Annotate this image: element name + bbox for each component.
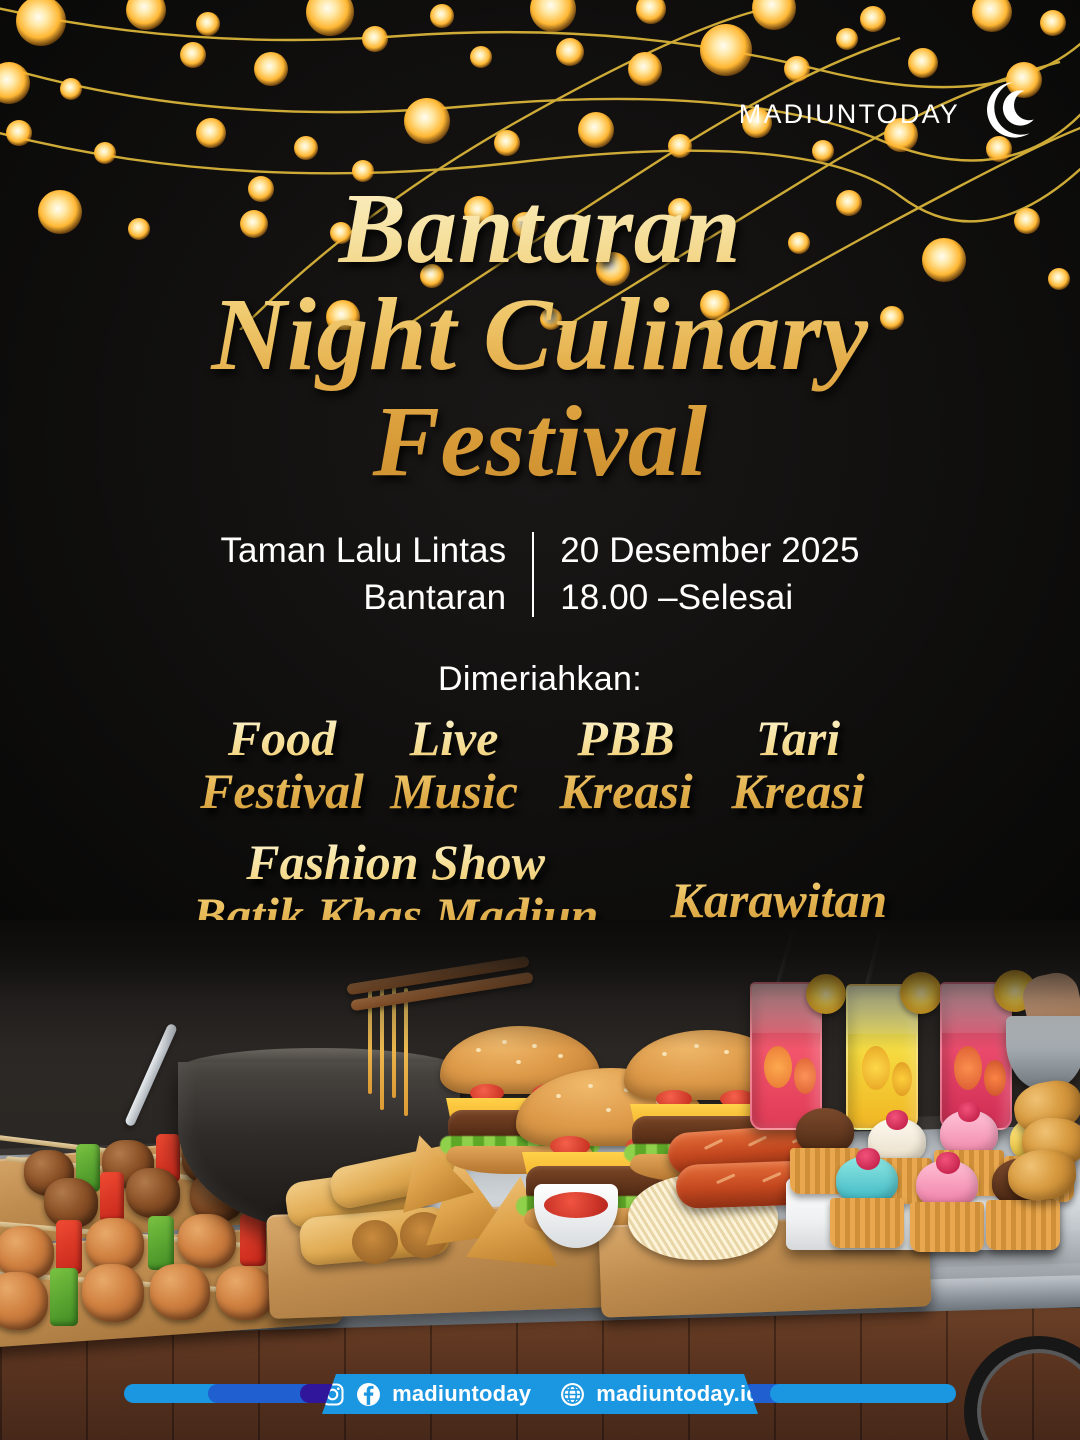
- title-line-3: Festival: [0, 389, 1080, 494]
- lineup-item-line2: Music: [368, 765, 540, 818]
- lineup-heading: Dimeriahkan:: [0, 660, 1080, 699]
- footer-segment-light-right: [770, 1384, 956, 1403]
- sesame-seed: [724, 1050, 729, 1054]
- event-meta: Taman Lalu Lintas Bantaran 20 Desember 2…: [0, 528, 1080, 621]
- sesame-seed: [662, 1052, 667, 1056]
- title-line-2: Night Culinary: [0, 281, 1080, 389]
- footer-social-band: madiuntoday madiuntoday.id: [322, 1374, 758, 1414]
- lineup-row-1: Food Festival Live Music PBB Kreasi Tari…: [0, 712, 1080, 818]
- lineup-item-food-festival: Food Festival: [196, 712, 368, 818]
- hanging-noodle: [404, 988, 408, 1116]
- event-date: 20 Desember 2025: [560, 528, 859, 575]
- lemon-garnish: [806, 974, 846, 1014]
- sausage-score: [762, 1172, 781, 1183]
- raspberry-topping: [936, 1152, 960, 1174]
- venue-line-2: Bantaran: [220, 575, 506, 622]
- lineup-item-line2: Festival: [196, 765, 368, 818]
- crescent-swoosh-logo-icon: [960, 72, 1044, 156]
- satay-meat: [82, 1264, 144, 1322]
- lineup-item-line1: Fashion Show: [246, 834, 545, 890]
- spring-roll-end: [352, 1220, 398, 1264]
- sesame-seed: [516, 1060, 521, 1064]
- satay-meat: [150, 1264, 210, 1320]
- fruit-slice: [764, 1046, 792, 1088]
- sesame-seed: [532, 1044, 537, 1048]
- venue-block: Taman Lalu Lintas Bantaran: [220, 528, 532, 621]
- raspberry-topping: [886, 1110, 908, 1130]
- fruit-slice: [862, 1046, 890, 1090]
- footer-bar: madiuntoday madiuntoday.id: [0, 1374, 1080, 1414]
- fruit-slice: [984, 1060, 1006, 1096]
- cupcake-wrapper: [910, 1202, 984, 1252]
- sesame-seed: [556, 1094, 561, 1098]
- fruit-slice: [794, 1058, 816, 1094]
- facebook-icon[interactable]: [356, 1382, 381, 1407]
- fruit-slice: [892, 1062, 912, 1096]
- sesame-seed: [502, 1040, 507, 1044]
- lineup-item-live-music: Live Music: [368, 712, 540, 818]
- satay-meat: [126, 1168, 180, 1218]
- satay-meat: [178, 1214, 236, 1268]
- website-url[interactable]: madiuntoday.id: [596, 1381, 760, 1407]
- food-spread-photo: [0, 920, 1080, 1440]
- title-line-1: Bantaran: [0, 176, 1080, 281]
- sausage-score: [704, 1139, 723, 1150]
- sesame-seed: [476, 1048, 481, 1052]
- lineup-item-karawitan: Karawitan: [670, 836, 887, 927]
- satay-meat: [0, 1272, 48, 1330]
- brand-logo-text: MADIUNTODAY: [739, 99, 960, 130]
- sesame-seed: [694, 1044, 699, 1048]
- brand-logo: MADIUNTODAY: [739, 72, 1044, 156]
- lineup-item-pbb-kreasi: PBB Kreasi: [540, 712, 712, 818]
- lineup-item-line1: PBB: [577, 710, 674, 766]
- raspberry-topping: [856, 1148, 880, 1170]
- page-title: Bantaran Night Culinary Festival: [0, 176, 1080, 494]
- bell-pepper-green: [50, 1268, 78, 1326]
- lineup-item-line1: Tari: [756, 710, 840, 766]
- datetime-block: 20 Desember 2025 18.00 –Selesai: [534, 528, 859, 621]
- cupcake-wrapper: [986, 1200, 1060, 1250]
- sesame-seed: [558, 1054, 563, 1058]
- lemon-garnish: [900, 972, 942, 1014]
- sausage-score: [748, 1135, 767, 1146]
- poster-root: MADIUNTODAY Bantaran Night Culinary Fest…: [0, 0, 1080, 1440]
- fruit-slice: [954, 1046, 982, 1090]
- bell-pepper-red: [240, 1214, 266, 1266]
- bell-pepper-green: [148, 1216, 174, 1270]
- lineup-item-line1: Live: [410, 710, 499, 766]
- sesame-seed: [606, 1108, 611, 1112]
- social-handle[interactable]: madiuntoday: [392, 1381, 531, 1407]
- satay-meat: [216, 1266, 274, 1320]
- chili-sauce: [544, 1192, 608, 1218]
- bell-pepper-red: [100, 1172, 124, 1222]
- cupcake-wrapper: [830, 1198, 904, 1248]
- sesame-seed: [588, 1084, 593, 1088]
- lineup-item-line2: Kreasi: [712, 765, 884, 818]
- lineup-item-line1: Food: [228, 710, 336, 766]
- lineup-item-tari-kreasi: Tari Kreasi: [712, 712, 884, 818]
- event-time: 18.00 –Selesai: [560, 575, 859, 622]
- venue-line-1: Taman Lalu Lintas: [220, 528, 506, 575]
- bell-pepper-red: [56, 1220, 82, 1274]
- lineup-item-line2: Kreasi: [540, 765, 712, 818]
- raspberry-topping: [958, 1102, 980, 1122]
- sausage-score: [716, 1173, 735, 1184]
- globe-icon[interactable]: [560, 1382, 585, 1407]
